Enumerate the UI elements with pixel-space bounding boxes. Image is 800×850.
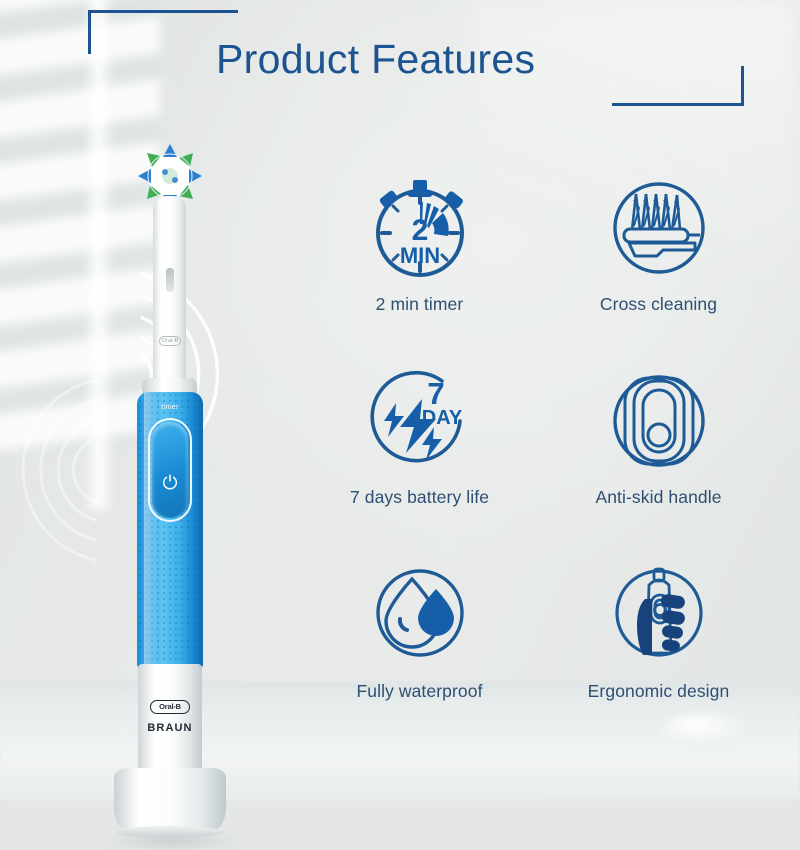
feature-label-cross-cleaning: Cross cleaning <box>600 294 717 315</box>
feature-item-cross-cleaning[interactable]: Cross cleaning <box>539 168 778 361</box>
grip-handle-icon <box>599 361 719 481</box>
feature-label-ergonomic: Ergonomic design <box>588 681 730 702</box>
battery-days-value: 7 <box>427 376 444 411</box>
stopwatch-unit: MIN <box>399 243 439 268</box>
feature-item-timer[interactable]: 2 MIN 2 min timer <box>300 168 539 361</box>
feature-grid: 2 MIN 2 min timer <box>300 168 778 748</box>
stopwatch-icon: 2 MIN <box>360 168 480 288</box>
brush-neck: Oral-B <box>153 196 186 394</box>
handle-base-white: Oral-B BRAUN <box>138 664 202 776</box>
oral-b-logo: Oral-B <box>150 700 190 714</box>
brush-head-icon <box>599 168 719 288</box>
feature-label-timer: 2 min timer <box>376 294 464 315</box>
power-icon: ⏻ <box>137 474 203 493</box>
battery-days-unit: DAY <box>421 407 462 429</box>
feature-item-anti-skid[interactable]: Anti-skid handle <box>539 361 778 554</box>
neck-slot <box>166 268 174 292</box>
feature-label-anti-skid: Anti-skid handle <box>595 487 721 508</box>
feature-label-waterproof: Fully waterproof <box>356 681 482 702</box>
charging-base-rim <box>116 826 224 838</box>
feature-label-battery: 7 days battery life <box>350 487 489 508</box>
feature-item-ergonomic[interactable]: Ergonomic design <box>539 555 778 748</box>
hand-grip-icon <box>599 555 719 675</box>
toothbrush-handle: timer ⏻ <box>137 392 203 670</box>
feature-item-battery[interactable]: 7 DAY 7 days battery life <box>300 361 539 554</box>
timer-label: timer <box>137 404 203 411</box>
lightning-bolt-icon: 7 DAY <box>360 361 480 481</box>
braun-logo: BRAUN <box>138 722 202 734</box>
product-toothbrush: Oral-B timer ⏻ Oral-B BRAUN <box>96 140 256 800</box>
charging-base <box>114 768 226 834</box>
neck-brand-logo: Oral-B <box>159 336 181 346</box>
water-droplet-icon <box>360 555 480 675</box>
feature-item-waterproof[interactable]: Fully waterproof <box>300 555 539 748</box>
power-button-face[interactable] <box>152 422 188 518</box>
